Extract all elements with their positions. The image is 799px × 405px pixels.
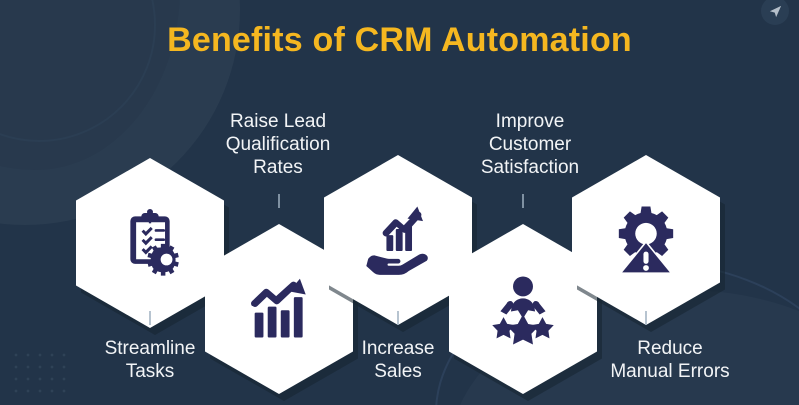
connector-tick-1 — [149, 311, 151, 325]
bar-chart-growth-arrow-icon — [241, 271, 317, 347]
benefit-label-2: Raise Lead Qualification Rates — [188, 110, 368, 180]
benefit-label-5: Reduce Manual Errors — [560, 337, 780, 383]
benefit-label-4: Improve Customer Satisfaction — [450, 110, 610, 180]
benefit-hexagon-1[interactable] — [76, 158, 224, 328]
page-title: Benefits of CRM Automation — [0, 21, 799, 60]
hand-holding-growth-chart-icon — [359, 201, 437, 279]
connector-tick-3 — [397, 311, 399, 325]
infographic-canvas: Benefits of CRM Automation — [0, 0, 799, 405]
benefit-label-1: Streamline Tasks — [55, 337, 245, 383]
connector-tick-2 — [278, 194, 280, 208]
benefit-hexagon-5[interactable] — [572, 155, 720, 325]
connector-tick-4 — [522, 194, 524, 208]
connector-tick-5 — [645, 311, 647, 325]
gear-warning-triangle-icon — [609, 203, 683, 277]
benefit-label-3: Increase Sales — [318, 337, 478, 383]
person-three-stars-rating-icon — [485, 271, 561, 347]
clipboard-checklist-gear-icon — [113, 206, 187, 280]
